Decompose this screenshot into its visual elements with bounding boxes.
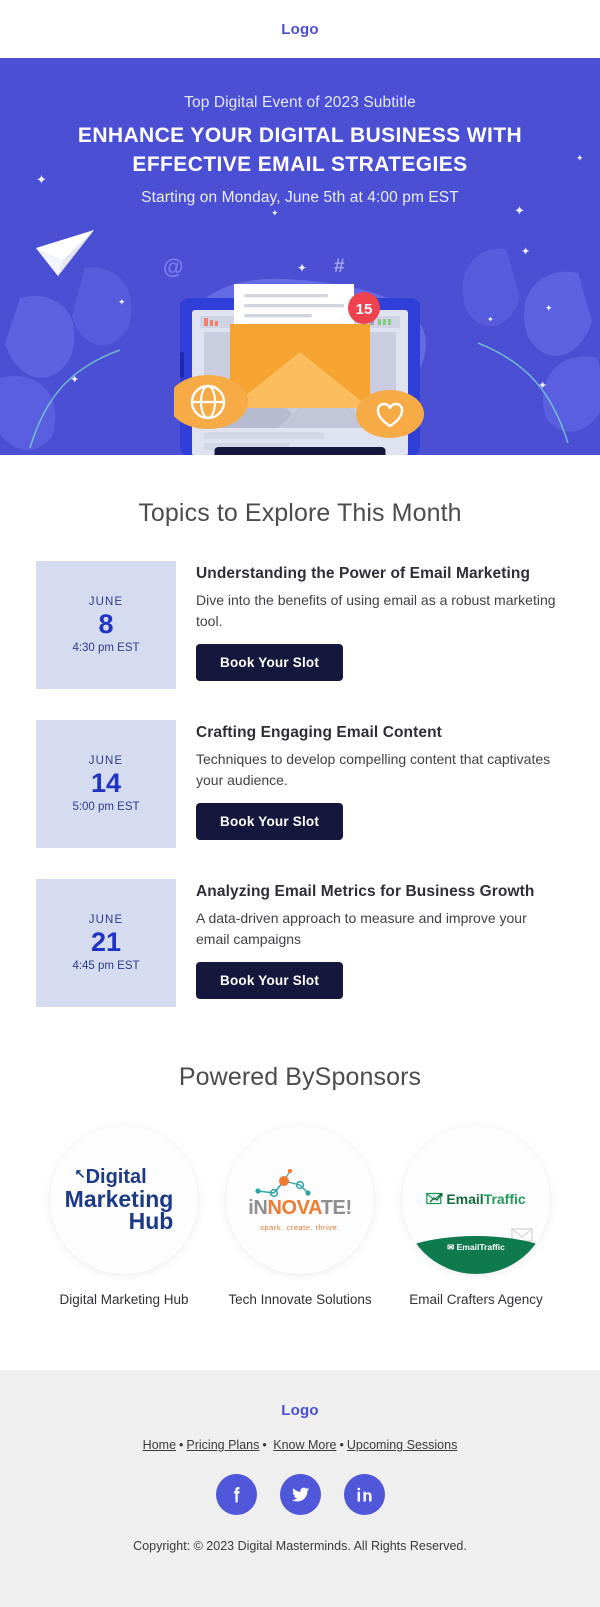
digital-marketing-hub-logo: ↖Digital Marketing Hub bbox=[75, 1168, 174, 1231]
sparkle-icon: ✦ bbox=[521, 247, 530, 258]
sponsors-heading: Powered BySponsors bbox=[0, 1063, 600, 1092]
dmh-line-2: Marketing bbox=[65, 1188, 174, 1210]
sponsor-logo-email-crafters-agency[interactable]: EmailTraffic ✉ EmailTraffic bbox=[402, 1126, 550, 1274]
footer-link-know-more[interactable]: Know More bbox=[273, 1438, 336, 1452]
paper-plane-icon bbox=[34, 228, 96, 280]
linkedin-glyph bbox=[354, 1484, 375, 1505]
email-illustration: 15 bbox=[174, 280, 426, 455]
topic-row: JUNE 14 5:00 pm EST Crafting Engaging Em… bbox=[36, 720, 564, 848]
topic-date-time: 4:45 pm EST bbox=[72, 960, 139, 972]
notification-badge-count: 15 bbox=[356, 301, 373, 318]
hash-symbol-icon: # bbox=[334, 257, 345, 276]
facebook-glyph bbox=[226, 1484, 247, 1505]
sponsor-item: EmailTraffic ✉ EmailTraffic Email Crafte… bbox=[396, 1126, 556, 1310]
topic-description: Techniques to develop compelling content… bbox=[196, 749, 564, 790]
hero-section: ✦ ✦ ✦ ✦ ✦ ✦ ✦ ✦ ✦ ✦ ✦ ✦ ✦ ✦ @ # Top Digi… bbox=[0, 58, 600, 455]
sponsor-item: iNNOVATE! spark. create. thrive. Tech In… bbox=[220, 1126, 380, 1310]
topic-date-month: JUNE bbox=[89, 914, 123, 926]
linkedin-icon[interactable] bbox=[344, 1474, 385, 1515]
footer-link-home[interactable]: Home bbox=[143, 1438, 176, 1452]
email-traffic-logo: EmailTraffic bbox=[426, 1191, 525, 1209]
network-nodes-icon bbox=[250, 1169, 324, 1199]
email-traffic-green-band: ✉ EmailTraffic bbox=[402, 1236, 550, 1274]
hero-content: Top Digital Event of 2023 Subtitle ENHAN… bbox=[0, 58, 600, 207]
hero-date-line: Starting on Monday, June 5th at 4:00 pm … bbox=[0, 189, 600, 207]
topic-date-card: JUNE 21 4:45 pm EST bbox=[36, 879, 176, 1007]
footer-logo[interactable]: Logo bbox=[0, 1402, 600, 1419]
topics-section: Topics to Explore This Month JUNE 8 4:30… bbox=[0, 455, 600, 1007]
topic-date-card: JUNE 8 4:30 pm EST bbox=[36, 561, 176, 689]
topic-row: JUNE 8 4:30 pm EST Understanding the Pow… bbox=[36, 561, 564, 689]
social-links bbox=[0, 1474, 600, 1515]
sparkle-icon: ✦ bbox=[271, 209, 279, 218]
topic-row: JUNE 21 4:45 pm EST Analyzing Email Metr… bbox=[36, 879, 564, 1007]
book-your-slot-button[interactable]: Book Your Slot bbox=[196, 962, 343, 999]
topic-body: Analyzing Email Metrics for Business Gro… bbox=[176, 879, 564, 1007]
sponsor-caption: Tech Innovate Solutions bbox=[220, 1290, 380, 1310]
topic-date-day: 14 bbox=[91, 769, 121, 799]
leaf-decoration-left bbox=[0, 258, 180, 455]
twitter-glyph bbox=[290, 1484, 311, 1505]
topic-date-day: 8 bbox=[98, 610, 113, 640]
topics-list: JUNE 8 4:30 pm EST Understanding the Pow… bbox=[0, 561, 600, 1007]
hero-title-line-1: ENHANCE YOUR DIGITAL BUSINESS WITH bbox=[40, 122, 560, 151]
sponsors-grid: ↖Digital Marketing Hub Digital Marketing… bbox=[0, 1126, 600, 1310]
at-symbol-icon: @ bbox=[163, 257, 183, 278]
hero-title: ENHANCE YOUR DIGITAL BUSINESS WITH EFFEC… bbox=[0, 122, 600, 180]
topic-description: Dive into the benefits of using email as… bbox=[196, 590, 564, 631]
sponsor-logo-digital-marketing-hub[interactable]: ↖Digital Marketing Hub bbox=[50, 1126, 198, 1274]
sign-up-today-button[interactable]: Sign Up Today bbox=[214, 447, 385, 455]
sponsor-logo-tech-innovate-solutions[interactable]: iNNOVATE! spark. create. thrive. bbox=[226, 1126, 374, 1274]
sparkle-icon: ✦ bbox=[545, 304, 553, 313]
topic-title: Crafting Engaging Email Content bbox=[196, 724, 564, 742]
footer-section: Logo Home•Pricing Plans• Know More•Upcom… bbox=[0, 1370, 600, 1607]
sparkle-icon: ✦ bbox=[538, 381, 547, 392]
topics-heading: Topics to Explore This Month bbox=[0, 499, 600, 528]
copyright-text: Copyright: © 2023 Digital Masterminds. A… bbox=[0, 1539, 600, 1553]
envelope-arrow-icon bbox=[426, 1192, 443, 1205]
dmh-line-1: ↖Digital bbox=[75, 1168, 174, 1187]
topic-date-card: JUNE 14 5:00 pm EST bbox=[36, 720, 176, 848]
book-your-slot-button[interactable]: Book Your Slot bbox=[196, 803, 343, 840]
leaf-decoration-right bbox=[428, 243, 600, 455]
sparkle-icon: ✦ bbox=[118, 298, 126, 307]
topic-title: Understanding the Power of Email Marketi… bbox=[196, 565, 564, 583]
topic-body: Understanding the Power of Email Marketi… bbox=[176, 561, 564, 689]
hero-subtitle: Top Digital Event of 2023 Subtitle bbox=[0, 94, 600, 112]
topic-date-month: JUNE bbox=[89, 596, 123, 608]
sponsor-caption: Digital Marketing Hub bbox=[44, 1290, 204, 1310]
innovate-tagline: spark. create. thrive. bbox=[248, 1223, 351, 1232]
arrow-icon: ↖ bbox=[75, 1166, 86, 1181]
hero-title-line-2: EFFECTIVE EMAIL STRATEGIES bbox=[40, 151, 560, 180]
footer-link-upcoming-sessions[interactable]: Upcoming Sessions bbox=[347, 1438, 457, 1452]
sparkle-icon: ✦ bbox=[297, 262, 307, 274]
topic-date-day: 21 bbox=[91, 928, 121, 958]
twitter-icon[interactable] bbox=[280, 1474, 321, 1515]
dmh-line-3: Hub bbox=[75, 1210, 174, 1232]
footer-separator: • bbox=[176, 1438, 186, 1452]
sponsor-caption: Email Crafters Agency bbox=[396, 1290, 556, 1310]
header-bar: Logo bbox=[0, 0, 600, 58]
book-your-slot-button[interactable]: Book Your Slot bbox=[196, 644, 343, 681]
topic-title: Analyzing Email Metrics for Business Gro… bbox=[196, 883, 564, 901]
topic-description: A data-driven approach to measure and im… bbox=[196, 908, 564, 949]
green-band-label: ✉ EmailTraffic bbox=[447, 1242, 505, 1253]
sponsor-item: ↖Digital Marketing Hub Digital Marketing… bbox=[44, 1126, 204, 1310]
footer-nav: Home•Pricing Plans• Know More•Upcoming S… bbox=[0, 1438, 600, 1452]
footer-link-pricing-plans[interactable]: Pricing Plans bbox=[186, 1438, 259, 1452]
topic-body: Crafting Engaging Email Content Techniqu… bbox=[176, 720, 564, 848]
footer-separator: • bbox=[336, 1438, 346, 1452]
topic-date-time: 4:30 pm EST bbox=[72, 642, 139, 654]
email-traffic-wordmark: EmailTraffic bbox=[446, 1191, 525, 1207]
sparkle-icon: ✦ bbox=[70, 375, 79, 386]
sparkle-icon: ✦ bbox=[487, 316, 494, 324]
topic-date-time: 5:00 pm EST bbox=[72, 801, 139, 813]
sponsors-section: Powered BySponsors ↖Digital Marketing Hu… bbox=[0, 1038, 600, 1370]
innovate-logo: iNNOVATE! spark. create. thrive. bbox=[248, 1169, 351, 1232]
footer-separator: • bbox=[259, 1438, 269, 1452]
topic-date-month: JUNE bbox=[89, 755, 123, 767]
innovate-wordmark: iNNOVATE! bbox=[248, 1197, 351, 1220]
header-logo[interactable]: Logo bbox=[281, 21, 318, 38]
facebook-icon[interactable] bbox=[216, 1474, 257, 1515]
